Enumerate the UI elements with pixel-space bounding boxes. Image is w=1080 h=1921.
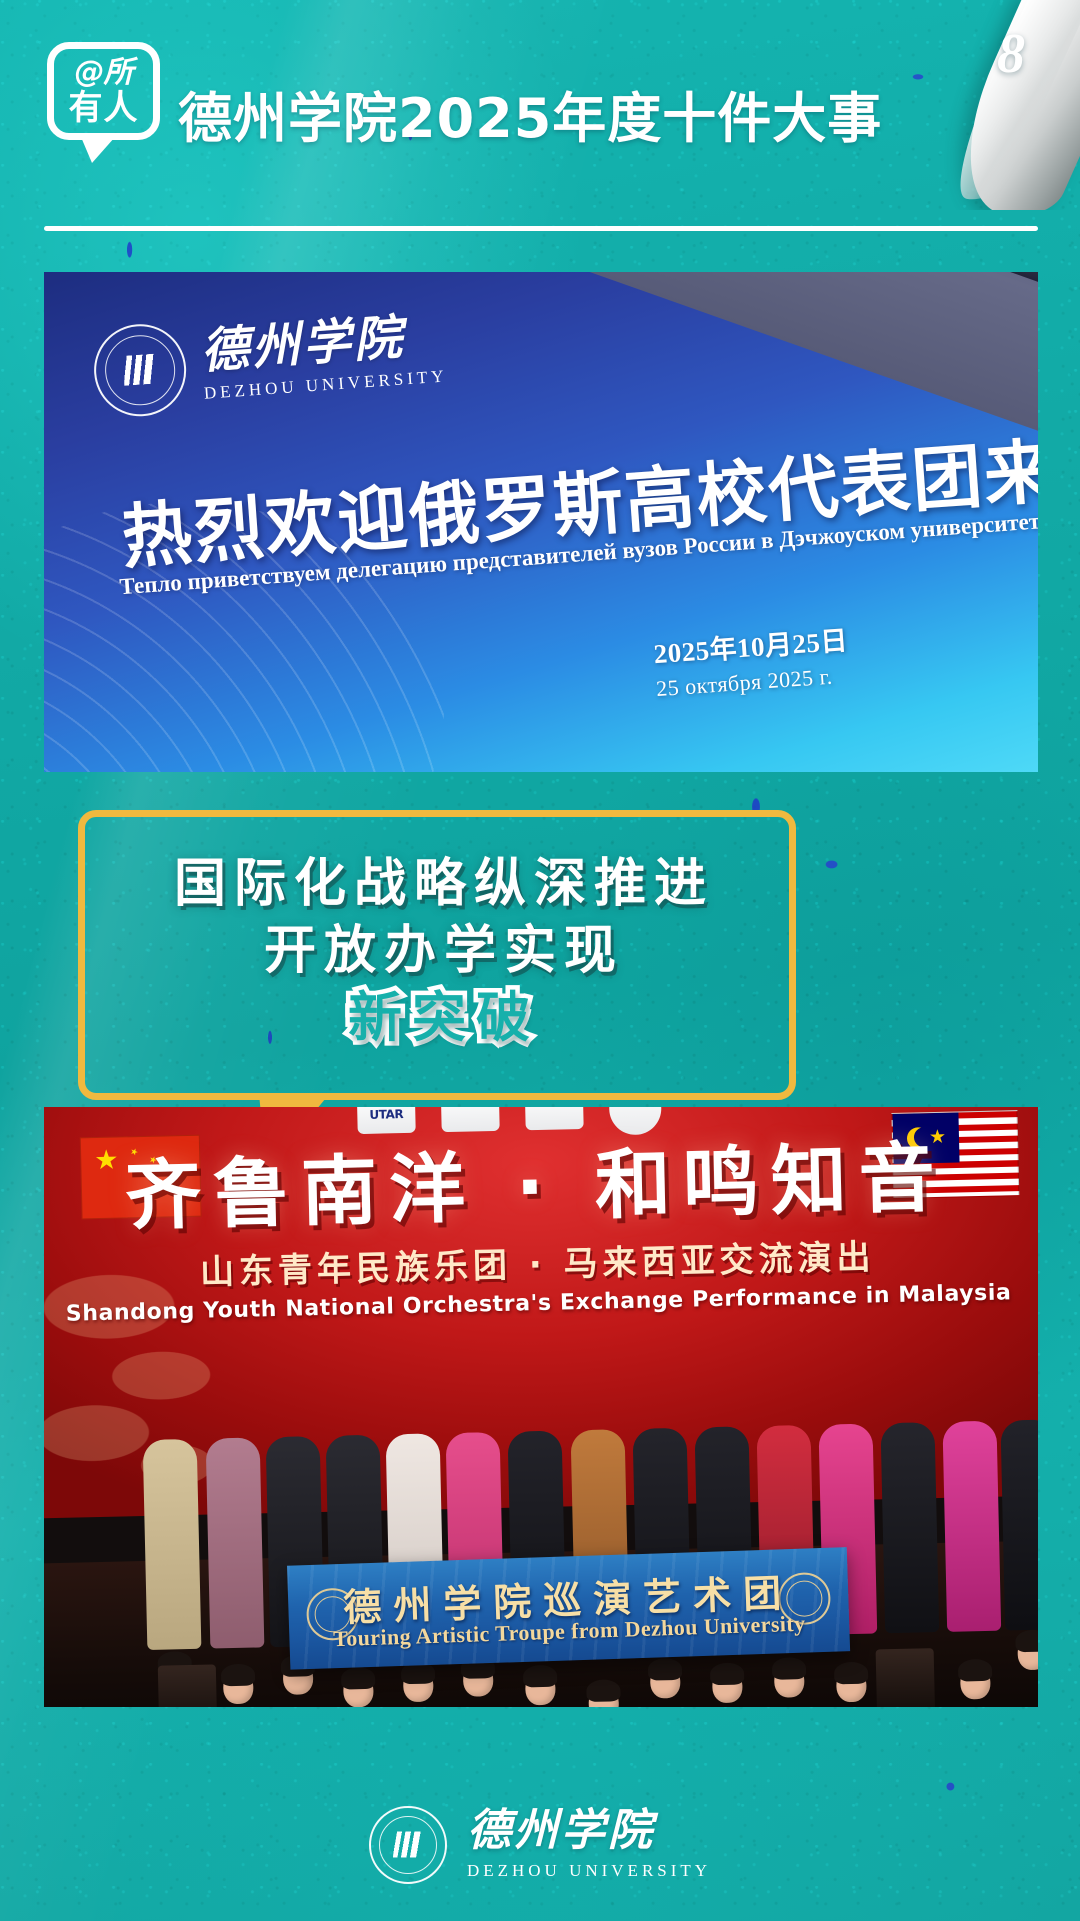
callout-line-1: 国际化战略纵深推进 [71,851,817,918]
screen-date-cn: 2025年10月25日 [652,618,849,671]
photo-russian-delegation: 德州学院 DEZHOU UNIVERSITY 热烈欢迎俄罗斯高校代表团来访 Те… [44,272,1038,772]
stage-speaker [158,1664,218,1707]
poster-header: @所 有人 德州学院2025年度十件大事 8 [0,0,1080,200]
footer-university-names: 德州学院 DEZHOU UNIVERSITY [467,1809,711,1881]
speech-bubble-icon: @所 有人 [47,42,160,140]
poster-root: @所 有人 德州学院2025年度十件大事 8 德州学院 DEZHOU UNIVE… [0,0,1080,1921]
photo-skew-wrapper: UTAR ★ 齐鲁南洋 · 和鸣知音 山东青年民族乐团 · 马来西亚交流演出 S… [44,1107,1038,1707]
page-title: 德州学院2025年度十件大事 [178,74,882,153]
callout-line-2: 开放办学实现 [71,918,817,985]
speech-bubble-tail-icon [81,137,115,163]
footer-university-name-en: DEZHOU UNIVERSITY [467,1861,711,1881]
page-number: 8 [997,22,1025,86]
callout-line-3-highlight: 新突破 [71,984,817,1052]
led-screen-content: 德州学院 DEZHOU UNIVERSITY 热烈欢迎俄罗斯高校代表团来访 Те… [44,272,1038,772]
photo-orchestra-malaysia: UTAR ★ 齐鲁南洋 · 和鸣知音 山东青年民族乐团 · 马来西亚交流演出 S… [44,1107,1038,1707]
page-curl-icon [850,0,1080,210]
screen-date-block: 2025年10月25日 25 октября 2025 г. [652,618,851,702]
callout-text-block: 国际化战略纵深推进 开放办学实现 新突破 [71,851,817,1052]
concert-banner-title: 齐鲁南洋 · 和鸣知音 [44,1114,1038,1247]
achievement-callout-box: 国际化战略纵深推进 开放办学实现 新突破 [78,810,796,1100]
poster-footer: 德州学院 DEZHOU UNIVERSITY [0,1780,1080,1910]
badge-line-2: 有人 [69,91,139,125]
troupe-banner: 德州学院巡演艺术团 Touring Artistic Troupe from D… [287,1547,850,1670]
footer-university-name-cn: 德州学院 [467,1809,711,1853]
badge-line-1: @所 [75,58,133,88]
at-everyone-badge: @所 有人 [47,42,160,140]
footer-university-seal-icon [369,1806,447,1884]
dezhou-university-logo: 德州学院 DEZHOU UNIVERSITY [91,303,449,420]
header-divider [44,226,1038,231]
stage-speaker [876,1648,936,1707]
university-seal-icon [91,321,189,419]
screen-university-name-cn: 德州学院 [199,311,446,376]
